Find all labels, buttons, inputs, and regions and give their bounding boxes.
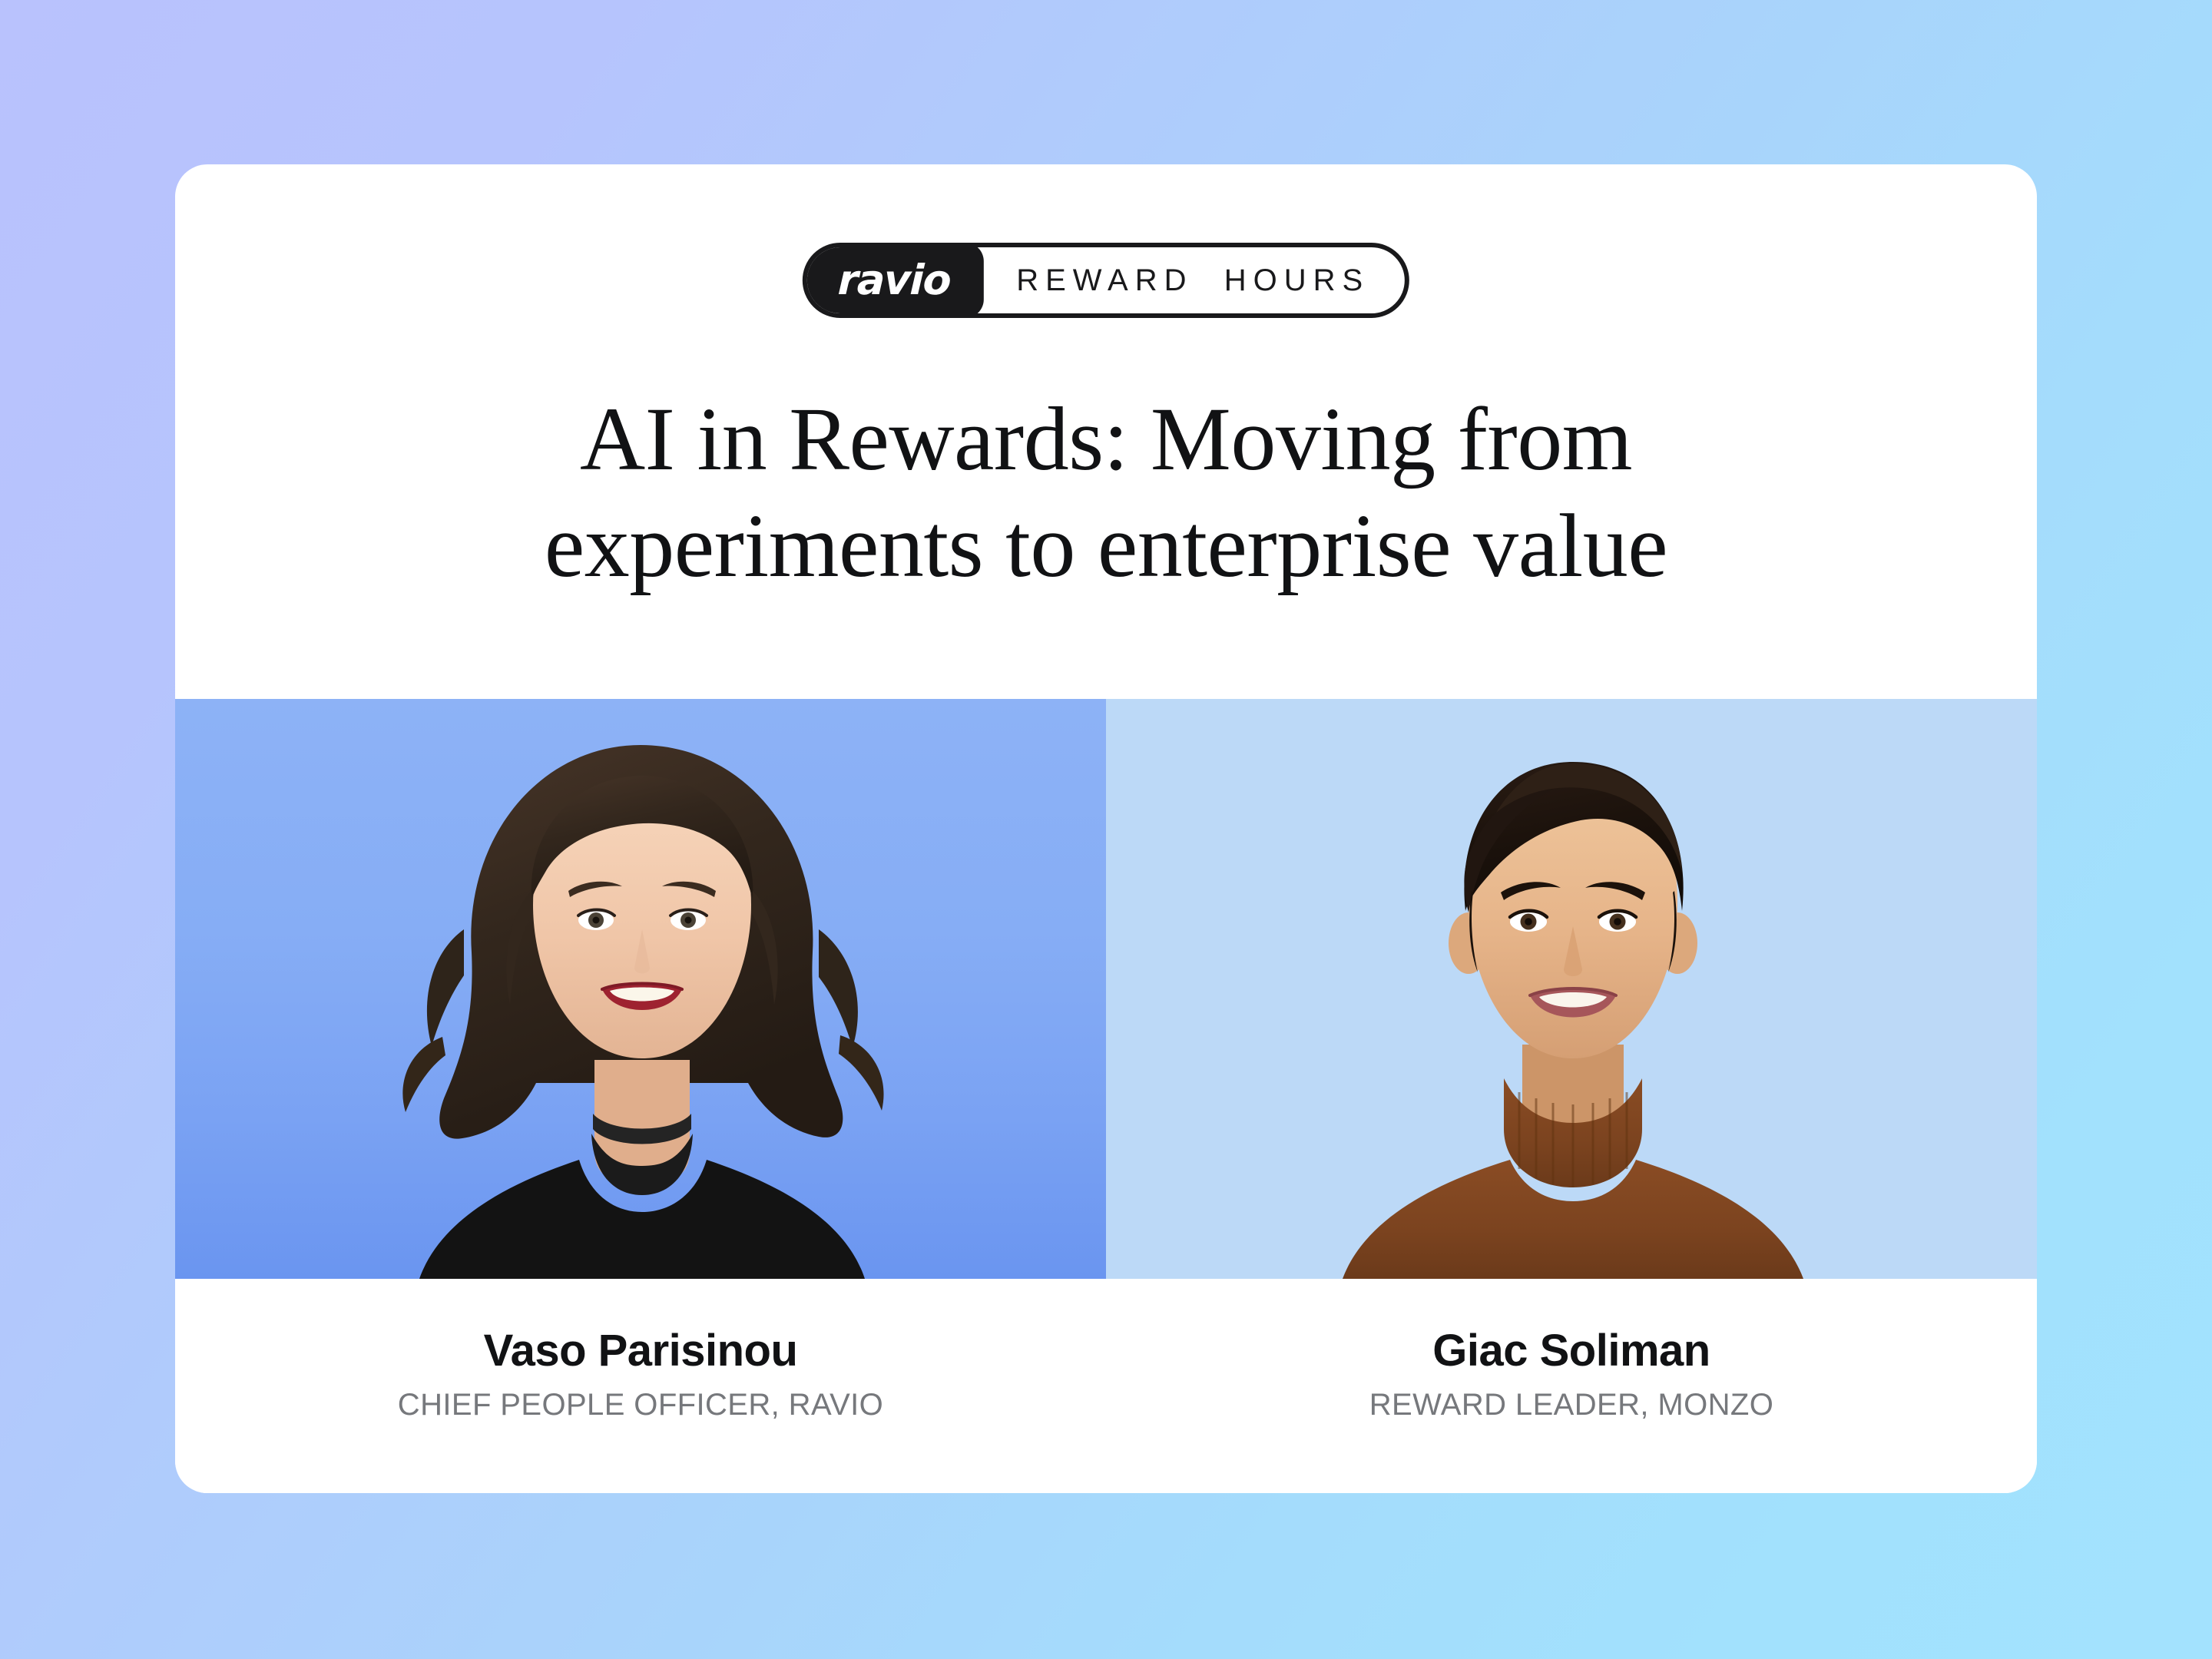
promo-slide: ravio REWARD HOURS AI in Rewards: Moving… xyxy=(0,0,2212,1659)
speaker-photo-vaso-parisinou xyxy=(175,699,1106,1279)
portrait-illustration-giac xyxy=(1280,699,1863,1279)
page-title: AI in Rewards: Moving from experiments t… xyxy=(175,386,2037,599)
speaker-card-vaso-parisinou: Vaso Parisinou CHIEF PEOPLE OFFICER, RAV… xyxy=(175,1279,1106,1493)
speaker-name: Vaso Parisinou xyxy=(175,1326,1106,1376)
ravio-logo: ravio xyxy=(803,243,984,318)
speaker-photo-giac-soliman xyxy=(1106,699,2037,1279)
portrait-illustration-vaso xyxy=(349,699,932,1279)
card-header: ravio REWARD HOURS AI in Rewards: Moving… xyxy=(175,164,2037,699)
speaker-names-row: Vaso Parisinou CHIEF PEOPLE OFFICER, RAV… xyxy=(175,1279,2037,1493)
speaker-name: Giac Soliman xyxy=(1106,1326,2037,1376)
speaker-photo-strip xyxy=(175,699,2037,1279)
speaker-role: CHIEF PEOPLE OFFICER, RAVIO xyxy=(175,1388,1106,1422)
event-card: ravio REWARD HOURS AI in Rewards: Moving… xyxy=(175,164,2037,1493)
ravio-logo-text: ravio xyxy=(837,260,951,301)
badge-label: REWARD HOURS xyxy=(984,247,1405,313)
speaker-role: REWARD LEADER, MONZO xyxy=(1106,1388,2037,1422)
speaker-card-giac-soliman: Giac Soliman REWARD LEADER, MONZO xyxy=(1106,1279,2037,1493)
ravio-reward-hours-badge: ravio REWARD HOURS xyxy=(803,243,1409,318)
